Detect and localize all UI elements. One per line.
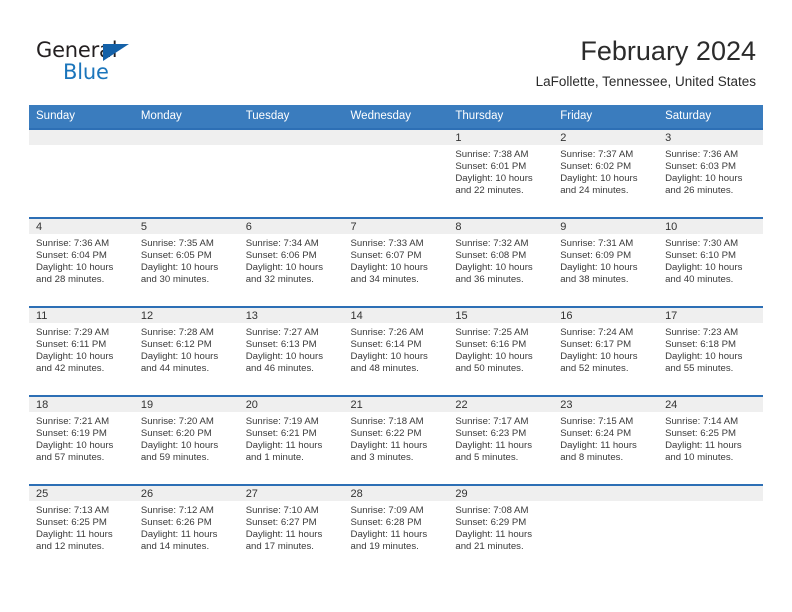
daylight-text: Daylight: 11 hours and 14 minutes. [141, 529, 234, 553]
weekday-header-saturday: Saturday [658, 105, 763, 129]
day-details: Sunrise: 7:08 AMSunset: 6:29 PMDaylight:… [448, 501, 553, 553]
sunset-text: Sunset: 6:17 PM [560, 339, 653, 351]
sunset-text: Sunset: 6:10 PM [665, 250, 758, 262]
calendar-week-row: 11Sunrise: 7:29 AMSunset: 6:11 PMDayligh… [29, 307, 763, 396]
daylight-text: Daylight: 10 hours and 32 minutes. [246, 262, 339, 286]
weekday-header-sunday: Sunday [29, 105, 134, 129]
daylight-text: Daylight: 10 hours and 48 minutes. [351, 351, 444, 375]
calendar-day-cell[interactable]: 23Sunrise: 7:15 AMSunset: 6:24 PMDayligh… [553, 396, 658, 485]
daylight-text: Daylight: 11 hours and 3 minutes. [351, 440, 444, 464]
weekday-header-row: Sunday Monday Tuesday Wednesday Thursday… [29, 105, 763, 129]
day-number [134, 130, 239, 145]
sunset-text: Sunset: 6:26 PM [141, 517, 234, 529]
calendar-day-cell[interactable]: 26Sunrise: 7:12 AMSunset: 6:26 PMDayligh… [134, 485, 239, 574]
sunset-text: Sunset: 6:21 PM [246, 428, 339, 440]
day-details: Sunrise: 7:32 AMSunset: 6:08 PMDaylight:… [448, 234, 553, 286]
day-number: 23 [553, 397, 658, 412]
day-details: Sunrise: 7:15 AMSunset: 6:24 PMDaylight:… [553, 412, 658, 464]
sunset-text: Sunset: 6:27 PM [246, 517, 339, 529]
calendar-week-row: 1Sunrise: 7:38 AMSunset: 6:01 PMDaylight… [29, 129, 763, 218]
day-number [344, 130, 449, 145]
day-number [553, 486, 658, 501]
calendar-day-cell[interactable]: 3Sunrise: 7:36 AMSunset: 6:03 PMDaylight… [658, 129, 763, 218]
sunrise-text: Sunrise: 7:20 AM [141, 416, 234, 428]
sunrise-text: Sunrise: 7:19 AM [246, 416, 339, 428]
day-number: 7 [344, 219, 449, 234]
daylight-text: Daylight: 10 hours and 24 minutes. [560, 173, 653, 197]
page-title: February 2024 [536, 34, 756, 68]
sunrise-text: Sunrise: 7:31 AM [560, 238, 653, 250]
daylight-text: Daylight: 11 hours and 17 minutes. [246, 529, 339, 553]
sunset-text: Sunset: 6:29 PM [455, 517, 548, 529]
calendar-day-cell-empty [658, 485, 763, 574]
daylight-text: Daylight: 10 hours and 42 minutes. [36, 351, 129, 375]
sunset-text: Sunset: 6:24 PM [560, 428, 653, 440]
daylight-text: Daylight: 10 hours and 40 minutes. [665, 262, 758, 286]
calendar-day-cell[interactable]: 2Sunrise: 7:37 AMSunset: 6:02 PMDaylight… [553, 129, 658, 218]
sunrise-text: Sunrise: 7:38 AM [455, 149, 548, 161]
day-details: Sunrise: 7:30 AMSunset: 6:10 PMDaylight:… [658, 234, 763, 286]
sunset-text: Sunset: 6:04 PM [36, 250, 129, 262]
sunset-text: Sunset: 6:06 PM [246, 250, 339, 262]
day-number: 25 [29, 486, 134, 501]
calendar-day-cell-empty [239, 129, 344, 218]
calendar-day-cell[interactable]: 9Sunrise: 7:31 AMSunset: 6:09 PMDaylight… [553, 218, 658, 307]
calendar-day-cell[interactable]: 25Sunrise: 7:13 AMSunset: 6:25 PMDayligh… [29, 485, 134, 574]
day-details: Sunrise: 7:28 AMSunset: 6:12 PMDaylight:… [134, 323, 239, 375]
day-number: 8 [448, 219, 553, 234]
day-details: Sunrise: 7:10 AMSunset: 6:27 PMDaylight:… [239, 501, 344, 553]
calendar-day-cell[interactable]: 11Sunrise: 7:29 AMSunset: 6:11 PMDayligh… [29, 307, 134, 396]
weekday-header-thursday: Thursday [448, 105, 553, 129]
daylight-text: Daylight: 11 hours and 21 minutes. [455, 529, 548, 553]
day-details: Sunrise: 7:36 AMSunset: 6:03 PMDaylight:… [658, 145, 763, 197]
calendar-day-cell[interactable]: 10Sunrise: 7:30 AMSunset: 6:10 PMDayligh… [658, 218, 763, 307]
calendar-day-cell[interactable]: 13Sunrise: 7:27 AMSunset: 6:13 PMDayligh… [239, 307, 344, 396]
sunrise-text: Sunrise: 7:26 AM [351, 327, 444, 339]
logo-text-blue: Blue [63, 60, 109, 84]
day-number: 26 [134, 486, 239, 501]
sunrise-text: Sunrise: 7:27 AM [246, 327, 339, 339]
sunset-text: Sunset: 6:12 PM [141, 339, 234, 351]
sunset-text: Sunset: 6:07 PM [351, 250, 444, 262]
daylight-text: Daylight: 10 hours and 26 minutes. [665, 173, 758, 197]
day-number: 24 [658, 397, 763, 412]
day-details: Sunrise: 7:21 AMSunset: 6:19 PMDaylight:… [29, 412, 134, 464]
calendar-day-cell-empty [553, 485, 658, 574]
daylight-text: Daylight: 10 hours and 57 minutes. [36, 440, 129, 464]
sunrise-text: Sunrise: 7:24 AM [560, 327, 653, 339]
day-number: 9 [553, 219, 658, 234]
sunset-text: Sunset: 6:22 PM [351, 428, 444, 440]
sunset-text: Sunset: 6:25 PM [36, 517, 129, 529]
sunrise-text: Sunrise: 7:25 AM [455, 327, 548, 339]
calendar-day-cell-empty [344, 129, 449, 218]
daylight-text: Daylight: 10 hours and 30 minutes. [141, 262, 234, 286]
day-details: Sunrise: 7:24 AMSunset: 6:17 PMDaylight:… [553, 323, 658, 375]
sunset-text: Sunset: 6:28 PM [351, 517, 444, 529]
day-number: 15 [448, 308, 553, 323]
calendar-day-cell[interactable]: 28Sunrise: 7:09 AMSunset: 6:28 PMDayligh… [344, 485, 449, 574]
calendar-day-cell[interactable]: 16Sunrise: 7:24 AMSunset: 6:17 PMDayligh… [553, 307, 658, 396]
day-number: 11 [29, 308, 134, 323]
day-number: 19 [134, 397, 239, 412]
day-number: 12 [134, 308, 239, 323]
sunset-text: Sunset: 6:08 PM [455, 250, 548, 262]
day-details: Sunrise: 7:35 AMSunset: 6:05 PMDaylight:… [134, 234, 239, 286]
sunset-text: Sunset: 6:11 PM [36, 339, 129, 351]
calendar-day-cell[interactable]: 12Sunrise: 7:28 AMSunset: 6:12 PMDayligh… [134, 307, 239, 396]
sunset-text: Sunset: 6:19 PM [36, 428, 129, 440]
calendar-page: General Blue February 2024 LaFollette, T… [0, 0, 792, 612]
day-number: 13 [239, 308, 344, 323]
calendar-week-row: 18Sunrise: 7:21 AMSunset: 6:19 PMDayligh… [29, 396, 763, 485]
calendar-day-cell[interactable]: 22Sunrise: 7:17 AMSunset: 6:23 PMDayligh… [448, 396, 553, 485]
daylight-text: Daylight: 11 hours and 19 minutes. [351, 529, 444, 553]
daylight-text: Daylight: 10 hours and 34 minutes. [351, 262, 444, 286]
sunrise-text: Sunrise: 7:32 AM [455, 238, 548, 250]
day-number: 21 [344, 397, 449, 412]
calendar-day-cell[interactable]: 6Sunrise: 7:34 AMSunset: 6:06 PMDaylight… [239, 218, 344, 307]
daylight-text: Daylight: 10 hours and 55 minutes. [665, 351, 758, 375]
day-number: 29 [448, 486, 553, 501]
calendar-day-cell[interactable]: 17Sunrise: 7:23 AMSunset: 6:18 PMDayligh… [658, 307, 763, 396]
sunset-text: Sunset: 6:14 PM [351, 339, 444, 351]
day-number: 20 [239, 397, 344, 412]
day-details: Sunrise: 7:14 AMSunset: 6:25 PMDaylight:… [658, 412, 763, 464]
sunrise-text: Sunrise: 7:18 AM [351, 416, 444, 428]
sunrise-text: Sunrise: 7:28 AM [141, 327, 234, 339]
day-number [239, 130, 344, 145]
calendar-day-cell[interactable]: 19Sunrise: 7:20 AMSunset: 6:20 PMDayligh… [134, 396, 239, 485]
daylight-text: Daylight: 10 hours and 36 minutes. [455, 262, 548, 286]
day-details: Sunrise: 7:25 AMSunset: 6:16 PMDaylight:… [448, 323, 553, 375]
day-details: Sunrise: 7:34 AMSunset: 6:06 PMDaylight:… [239, 234, 344, 286]
calendar-day-cell[interactable]: 5Sunrise: 7:35 AMSunset: 6:05 PMDaylight… [134, 218, 239, 307]
day-details: Sunrise: 7:13 AMSunset: 6:25 PMDaylight:… [29, 501, 134, 553]
day-details: Sunrise: 7:23 AMSunset: 6:18 PMDaylight:… [658, 323, 763, 375]
day-number [29, 130, 134, 145]
sunset-text: Sunset: 6:02 PM [560, 161, 653, 173]
location-subtitle: LaFollette, Tennessee, United States [536, 73, 756, 90]
calendar-day-cell-empty [134, 129, 239, 218]
daylight-text: Daylight: 10 hours and 52 minutes. [560, 351, 653, 375]
day-number: 5 [134, 219, 239, 234]
sunrise-text: Sunrise: 7:15 AM [560, 416, 653, 428]
day-details: Sunrise: 7:38 AMSunset: 6:01 PMDaylight:… [448, 145, 553, 197]
calendar-day-cell[interactable]: 8Sunrise: 7:32 AMSunset: 6:08 PMDaylight… [448, 218, 553, 307]
day-details: Sunrise: 7:26 AMSunset: 6:14 PMDaylight:… [344, 323, 449, 375]
calendar-day-cell[interactable]: 20Sunrise: 7:19 AMSunset: 6:21 PMDayligh… [239, 396, 344, 485]
day-number: 28 [344, 486, 449, 501]
sunrise-text: Sunrise: 7:10 AM [246, 505, 339, 517]
day-number: 22 [448, 397, 553, 412]
sunset-text: Sunset: 6:18 PM [665, 339, 758, 351]
sunset-text: Sunset: 6:16 PM [455, 339, 548, 351]
day-number: 6 [239, 219, 344, 234]
sunset-text: Sunset: 6:05 PM [141, 250, 234, 262]
sunrise-text: Sunrise: 7:17 AM [455, 416, 548, 428]
day-number: 2 [553, 130, 658, 145]
calendar-day-cell[interactable]: 24Sunrise: 7:14 AMSunset: 6:25 PMDayligh… [658, 396, 763, 485]
sunset-text: Sunset: 6:23 PM [455, 428, 548, 440]
sunrise-sunset-calendar: Sunday Monday Tuesday Wednesday Thursday… [29, 105, 763, 574]
logo-triangle-icon [103, 44, 129, 61]
daylight-text: Daylight: 11 hours and 1 minute. [246, 440, 339, 464]
sunset-text: Sunset: 6:03 PM [665, 161, 758, 173]
day-details: Sunrise: 7:27 AMSunset: 6:13 PMDaylight:… [239, 323, 344, 375]
day-details: Sunrise: 7:33 AMSunset: 6:07 PMDaylight:… [344, 234, 449, 286]
day-details: Sunrise: 7:20 AMSunset: 6:20 PMDaylight:… [134, 412, 239, 464]
sunrise-text: Sunrise: 7:35 AM [141, 238, 234, 250]
daylight-text: Daylight: 10 hours and 38 minutes. [560, 262, 653, 286]
calendar-day-cell[interactable]: 18Sunrise: 7:21 AMSunset: 6:19 PMDayligh… [29, 396, 134, 485]
day-number: 27 [239, 486, 344, 501]
daylight-text: Daylight: 10 hours and 50 minutes. [455, 351, 548, 375]
calendar-day-cell[interactable]: 7Sunrise: 7:33 AMSunset: 6:07 PMDaylight… [344, 218, 449, 307]
daylight-text: Daylight: 11 hours and 10 minutes. [665, 440, 758, 464]
daylight-text: Daylight: 10 hours and 46 minutes. [246, 351, 339, 375]
day-details: Sunrise: 7:19 AMSunset: 6:21 PMDaylight:… [239, 412, 344, 464]
calendar-body: 1Sunrise: 7:38 AMSunset: 6:01 PMDaylight… [29, 129, 763, 574]
daylight-text: Daylight: 10 hours and 44 minutes. [141, 351, 234, 375]
day-number: 18 [29, 397, 134, 412]
weekday-header-tuesday: Tuesday [239, 105, 344, 129]
day-details: Sunrise: 7:36 AMSunset: 6:04 PMDaylight:… [29, 234, 134, 286]
day-details: Sunrise: 7:29 AMSunset: 6:11 PMDaylight:… [29, 323, 134, 375]
day-number: 4 [29, 219, 134, 234]
sunrise-text: Sunrise: 7:36 AM [36, 238, 129, 250]
day-number: 10 [658, 219, 763, 234]
weekday-header-wednesday: Wednesday [344, 105, 449, 129]
sunset-text: Sunset: 6:01 PM [455, 161, 548, 173]
daylight-text: Daylight: 11 hours and 12 minutes. [36, 529, 129, 553]
calendar-day-cell[interactable]: 21Sunrise: 7:18 AMSunset: 6:22 PMDayligh… [344, 396, 449, 485]
day-number: 1 [448, 130, 553, 145]
sunrise-text: Sunrise: 7:12 AM [141, 505, 234, 517]
general-blue-logo[interactable]: General Blue [36, 38, 176, 88]
sunrise-text: Sunrise: 7:37 AM [560, 149, 653, 161]
calendar-day-cell[interactable]: 27Sunrise: 7:10 AMSunset: 6:27 PMDayligh… [239, 485, 344, 574]
day-number: 16 [553, 308, 658, 323]
sunset-text: Sunset: 6:13 PM [246, 339, 339, 351]
sunrise-text: Sunrise: 7:14 AM [665, 416, 758, 428]
day-details: Sunrise: 7:09 AMSunset: 6:28 PMDaylight:… [344, 501, 449, 553]
sunset-text: Sunset: 6:25 PM [665, 428, 758, 440]
calendar-week-row: 25Sunrise: 7:13 AMSunset: 6:25 PMDayligh… [29, 485, 763, 574]
daylight-text: Daylight: 10 hours and 28 minutes. [36, 262, 129, 286]
day-number: 17 [658, 308, 763, 323]
day-details: Sunrise: 7:17 AMSunset: 6:23 PMDaylight:… [448, 412, 553, 464]
calendar-day-cell-empty [29, 129, 134, 218]
daylight-text: Daylight: 10 hours and 22 minutes. [455, 173, 548, 197]
calendar-day-cell[interactable]: 1Sunrise: 7:38 AMSunset: 6:01 PMDaylight… [448, 129, 553, 218]
day-details: Sunrise: 7:37 AMSunset: 6:02 PMDaylight:… [553, 145, 658, 197]
day-details: Sunrise: 7:31 AMSunset: 6:09 PMDaylight:… [553, 234, 658, 286]
sunset-text: Sunset: 6:20 PM [141, 428, 234, 440]
calendar-week-row: 4Sunrise: 7:36 AMSunset: 6:04 PMDaylight… [29, 218, 763, 307]
daylight-text: Daylight: 11 hours and 8 minutes. [560, 440, 653, 464]
calendar-day-cell[interactable]: 14Sunrise: 7:26 AMSunset: 6:14 PMDayligh… [344, 307, 449, 396]
daylight-text: Daylight: 11 hours and 5 minutes. [455, 440, 548, 464]
sunset-text: Sunset: 6:09 PM [560, 250, 653, 262]
sunrise-text: Sunrise: 7:33 AM [351, 238, 444, 250]
sunrise-text: Sunrise: 7:13 AM [36, 505, 129, 517]
sunrise-text: Sunrise: 7:36 AM [665, 149, 758, 161]
sunrise-text: Sunrise: 7:09 AM [351, 505, 444, 517]
day-number [658, 486, 763, 501]
calendar-day-cell[interactable]: 15Sunrise: 7:25 AMSunset: 6:16 PMDayligh… [448, 307, 553, 396]
sunrise-text: Sunrise: 7:30 AM [665, 238, 758, 250]
day-number: 14 [344, 308, 449, 323]
sunrise-text: Sunrise: 7:34 AM [246, 238, 339, 250]
sunrise-text: Sunrise: 7:29 AM [36, 327, 129, 339]
calendar-day-cell[interactable]: 29Sunrise: 7:08 AMSunset: 6:29 PMDayligh… [448, 485, 553, 574]
daylight-text: Daylight: 10 hours and 59 minutes. [141, 440, 234, 464]
day-details: Sunrise: 7:18 AMSunset: 6:22 PMDaylight:… [344, 412, 449, 464]
weekday-header-friday: Friday [553, 105, 658, 129]
sunrise-text: Sunrise: 7:08 AM [455, 505, 548, 517]
calendar-day-cell[interactable]: 4Sunrise: 7:36 AMSunset: 6:04 PMDaylight… [29, 218, 134, 307]
day-number: 3 [658, 130, 763, 145]
sunrise-text: Sunrise: 7:21 AM [36, 416, 129, 428]
page-header: General Blue February 2024 LaFollette, T… [0, 0, 792, 100]
weekday-header-monday: Monday [134, 105, 239, 129]
day-details: Sunrise: 7:12 AMSunset: 6:26 PMDaylight:… [134, 501, 239, 553]
title-block: February 2024 LaFollette, Tennessee, Uni… [536, 34, 756, 90]
sunrise-text: Sunrise: 7:23 AM [665, 327, 758, 339]
